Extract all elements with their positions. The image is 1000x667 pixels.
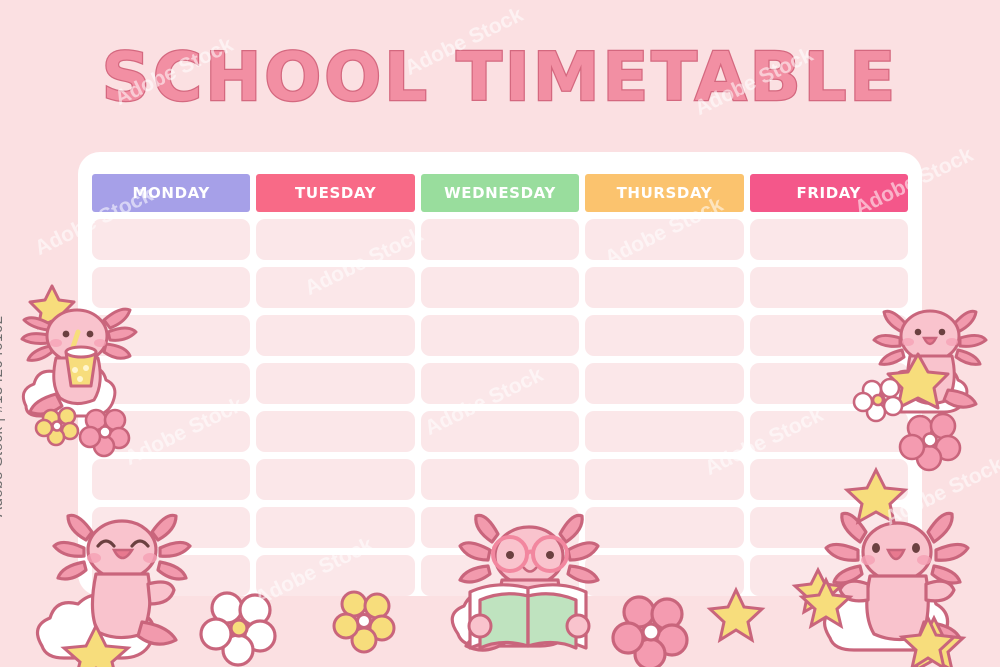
timetable-slot[interactable] xyxy=(750,459,908,500)
gill-right xyxy=(928,513,952,542)
axolotl-hand xyxy=(469,615,491,637)
star-icon xyxy=(905,618,963,667)
cheek xyxy=(50,339,62,347)
axolotl-arm xyxy=(926,581,954,601)
timetable-slot[interactable] xyxy=(421,315,579,356)
timetable-slot[interactable] xyxy=(421,219,579,260)
timetable-slot[interactable] xyxy=(421,555,579,596)
timetable-slot[interactable] xyxy=(585,315,743,356)
axolotl-tail xyxy=(944,390,976,407)
timetable-slot[interactable] xyxy=(256,555,414,596)
timetable-slot[interactable] xyxy=(750,219,908,260)
axolotl-tail xyxy=(920,622,960,642)
star-bottom-1 xyxy=(708,588,764,642)
star-icon xyxy=(64,626,128,667)
gill-left xyxy=(24,318,50,330)
timetable-slot[interactable] xyxy=(421,363,579,404)
timetable-slot[interactable] xyxy=(585,219,743,260)
day-header-monday[interactable]: MONDAY xyxy=(92,174,250,212)
timetable-slot[interactable] xyxy=(256,411,414,452)
gill-right xyxy=(954,311,976,332)
straw-icon xyxy=(70,332,78,356)
axolotl-tail xyxy=(138,622,176,644)
axolotl-tail xyxy=(466,628,506,650)
timetable-slot[interactable] xyxy=(421,267,579,308)
timetable-slot[interactable] xyxy=(421,459,579,500)
timetable-slot[interactable] xyxy=(585,507,743,548)
timetable-slot[interactable] xyxy=(92,363,250,404)
timetable-slot[interactable] xyxy=(256,459,414,500)
timetable-slot[interactable] xyxy=(585,411,743,452)
timetable-slot[interactable] xyxy=(256,315,414,356)
timetable-slot[interactable] xyxy=(92,315,250,356)
timetable-panel: MONDAYTUESDAYWEDNESDAYTHURSDAYFRIDAY xyxy=(78,152,922,596)
timetable-slot[interactable] xyxy=(92,459,250,500)
timetable-slot[interactable] xyxy=(750,555,908,596)
star-bottom-3 xyxy=(900,616,956,667)
timetable-slot[interactable] xyxy=(92,219,250,260)
star-icon xyxy=(30,286,74,328)
timetable-slot[interactable] xyxy=(585,459,743,500)
timetable-slot[interactable] xyxy=(750,315,908,356)
timetable-grid: MONDAYTUESDAYWEDNESDAYTHURSDAYFRIDAY xyxy=(92,174,908,596)
watermark-id: Adobe Stock | #1342046162 xyxy=(0,315,6,517)
timetable-slot[interactable] xyxy=(585,267,743,308)
timetable-slot[interactable] xyxy=(256,507,414,548)
day-header-thursday[interactable]: THURSDAY xyxy=(585,174,743,212)
timetable-slot[interactable] xyxy=(585,555,743,596)
timetable-slot[interactable] xyxy=(256,267,414,308)
gill-right xyxy=(936,544,968,560)
cheek xyxy=(946,338,958,346)
day-header-tuesday[interactable]: TUESDAY xyxy=(256,174,414,212)
axolotl-hand xyxy=(567,615,589,637)
timetable-slot[interactable] xyxy=(92,267,250,308)
gill-right xyxy=(932,566,960,583)
timetable-slot[interactable] xyxy=(92,411,250,452)
page-title: SCHOOL TIMETABLE xyxy=(0,44,1000,111)
timetable-slot[interactable] xyxy=(256,219,414,260)
flower-white-bottom xyxy=(200,590,280,667)
day-header-wednesday[interactable]: WEDNESDAY xyxy=(421,174,579,212)
timetable-slot[interactable] xyxy=(256,363,414,404)
timetable-slot[interactable] xyxy=(92,555,250,596)
mouth xyxy=(924,338,936,344)
eye xyxy=(63,331,70,338)
timetable-slot[interactable] xyxy=(585,363,743,404)
timetable-slot[interactable] xyxy=(421,507,579,548)
star-icon xyxy=(710,590,762,640)
flower-yellow-bottom xyxy=(330,588,400,658)
timetable-slot[interactable] xyxy=(750,507,908,548)
cloud-shape xyxy=(38,595,154,658)
axolotl-tail xyxy=(30,394,62,414)
flower-yellow xyxy=(36,408,78,445)
flower-pink-bottom xyxy=(612,594,692,667)
timetable-slot[interactable] xyxy=(750,363,908,404)
eye xyxy=(939,329,946,336)
timetable-slot[interactable] xyxy=(92,507,250,548)
timetable-slot[interactable] xyxy=(750,267,908,308)
day-header-friday[interactable]: FRIDAY xyxy=(750,174,908,212)
gill-right xyxy=(960,335,986,346)
book-cover xyxy=(480,594,528,648)
gill-left xyxy=(28,346,52,360)
star-icon xyxy=(902,618,954,667)
gill-right xyxy=(956,350,980,364)
gill-left xyxy=(22,334,48,344)
timetable-slot[interactable] xyxy=(421,411,579,452)
timetable-slot[interactable] xyxy=(750,411,908,452)
book-cover xyxy=(528,594,576,648)
